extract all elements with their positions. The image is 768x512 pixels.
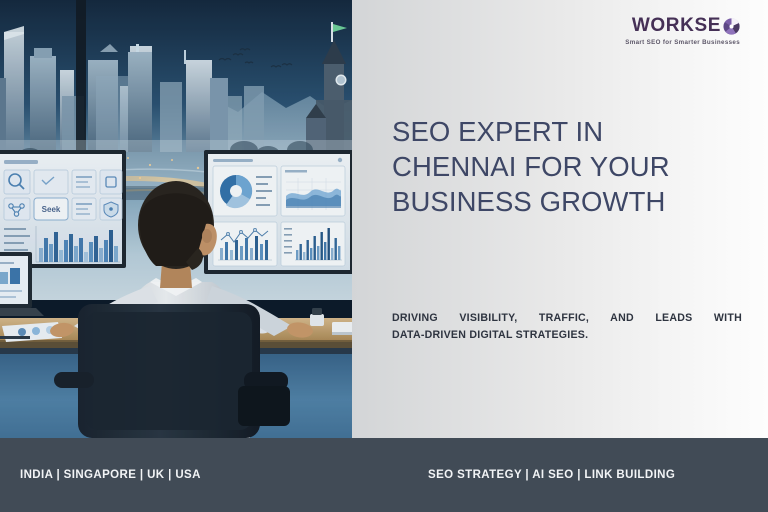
content-panel: WORKSE Smart SEO for Smarter Businesses … [352,0,768,438]
brand-tagline: Smart SEO for Smarter Businesses [625,40,740,46]
seo-agency-banner: Seek [0,0,768,512]
pie-disc-icon [723,18,740,35]
footer-bar: INDIA | SINGAPORE | UK | USA SEO STRATEG… [0,438,768,512]
page-subtitle-line2: DATA-DRIVEN DIGITAL STRATEGIES. [392,327,742,344]
office-scene-illustration: Seek [0,0,352,438]
brand-name-text: WORKSE [632,16,721,35]
brand-name: WORKSE [625,16,740,35]
page-subtitle: DRIVING VISIBILITY, TRAFFIC, AND LEADS W… [392,310,742,345]
page-title: SEO EXPERT IN CHENNAI FOR YOUR BUSINESS … [392,115,732,220]
footer-locations: INDIA | SINGAPORE | UK | USA [20,469,201,481]
brand-logo[interactable]: WORKSE Smart SEO for Smarter Businesses [625,16,740,46]
hero-photo: Seek [0,0,352,438]
footer-services: SEO STRATEGY | AI SEO | LINK BUILDING [428,469,675,481]
page-subtitle-line1: DRIVING VISIBILITY, TRAFFIC, AND LEADS W… [392,310,742,327]
